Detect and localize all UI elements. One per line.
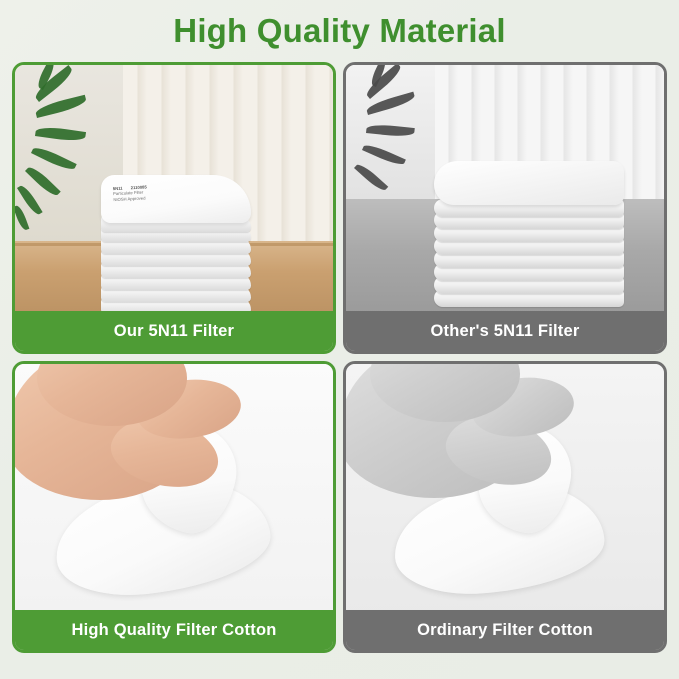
plant-icon-gray [346,81,432,231]
caption-ordinary-cotton: Ordinary Filter Cotton [346,610,664,650]
scene-desk-color: 5N11 2110085 Particulate Filter NIOSH Ap… [15,65,333,317]
page-title: High Quality Material [0,12,679,50]
photo-our-filter: 5N11 2110085 Particulate Filter NIOSH Ap… [15,65,333,317]
photo-ordinary-cotton [346,364,664,616]
photo-high-quality-cotton [15,364,333,616]
caption-other-filter: Other's 5N11 Filter [346,311,664,351]
card-high-quality-cotton: High Quality Filter Cotton [12,361,336,653]
card-ordinary-cotton: Ordinary Filter Cotton [343,361,667,653]
scene-hand-color [15,364,333,616]
top-filter-gray [434,161,624,205]
scene-hand-gray [346,364,664,616]
top-filter: 5N11 2110085 Particulate Filter NIOSH Ap… [101,175,251,223]
photo-other-filter [346,65,664,317]
filter-stack: 5N11 2110085 Particulate Filter NIOSH Ap… [101,175,251,310]
filter-label: 5N11 2110085 Particulate Filter NIOSH Ap… [113,180,234,202]
card-our-filter: 5N11 2110085 Particulate Filter NIOSH Ap… [12,62,336,354]
caption-high-quality-cotton: High Quality Filter Cotton [15,610,333,650]
filter-stack-gray [434,161,624,311]
product-infographic: High Quality Material [0,0,679,679]
scene-desk-gray [346,65,664,317]
caption-our-filter: Our 5N11 Filter [15,311,333,351]
plant-icon [15,81,101,231]
card-other-filter: Other's 5N11 Filter [343,62,667,354]
comparison-grid: 5N11 2110085 Particulate Filter NIOSH Ap… [12,62,667,653]
